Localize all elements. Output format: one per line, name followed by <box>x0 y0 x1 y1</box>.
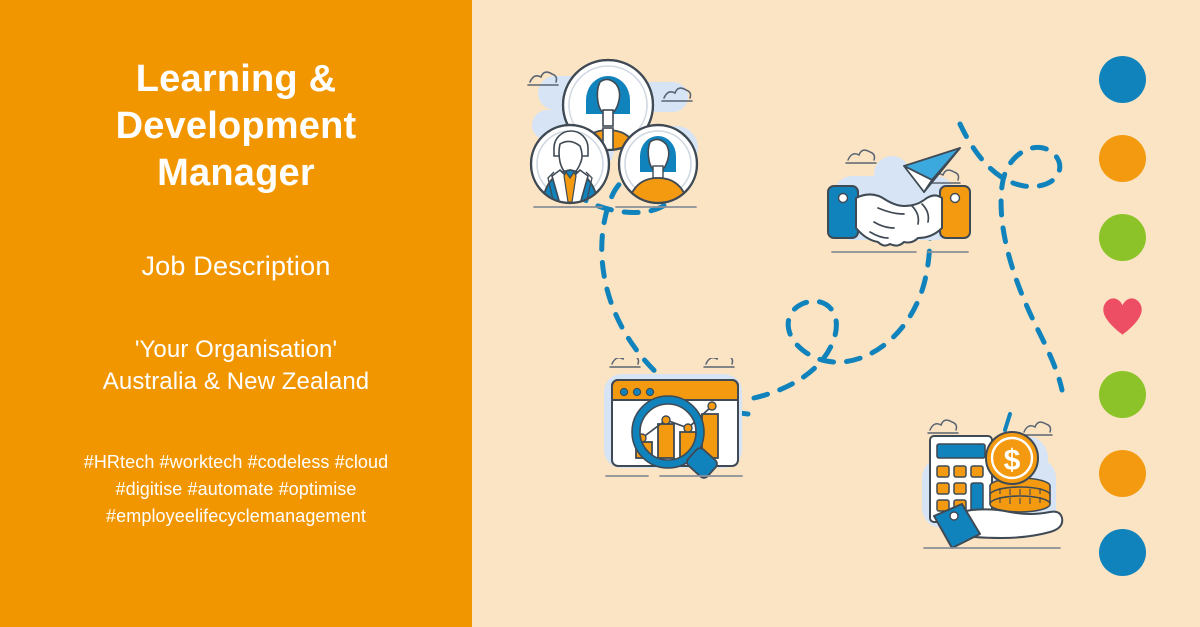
left-orange-panel: Learning & Development Manager Job Descr… <box>0 0 472 627</box>
dollar-coin-icon: $ <box>986 432 1038 484</box>
organisation-block: 'Your Organisation' Australia & New Zeal… <box>103 334 369 396</box>
illustration-area: $ <box>472 0 1200 627</box>
job-title-line-1: Learning & <box>46 56 426 103</box>
green-circle-1 <box>1099 214 1146 261</box>
hashtags-line-3: #employeelifecyclemanagement <box>84 503 389 530</box>
orange-circle-1 <box>1099 135 1146 182</box>
analytics-window-illustration <box>590 358 760 488</box>
blue-circle-1 <box>1099 56 1146 103</box>
hashtags-line-2: #digitise #automate #optimise <box>84 476 389 503</box>
pink-heart-icon <box>1099 292 1146 339</box>
organisation-name: 'Your Organisation' <box>103 334 369 365</box>
handshake-illustration <box>820 140 980 265</box>
window-dots <box>620 388 653 395</box>
green-circle-2 <box>1099 371 1146 418</box>
poster-canvas: Learning & Development Manager Job Descr… <box>0 0 1200 627</box>
page-title: Learning & Development Manager <box>46 56 426 197</box>
calculator-money-illustration: $ <box>912 412 1072 557</box>
job-title-line-3: Manager <box>46 150 426 197</box>
svg-text:$: $ <box>1004 444 1021 477</box>
hashtags-block: #HRtech #worktech #codeless #cloud #digi… <box>84 449 389 531</box>
blue-circle-2 <box>1099 529 1146 576</box>
orange-circle-2 <box>1099 450 1146 497</box>
region-name: Australia & New Zealand <box>103 366 369 397</box>
decorative-dot-column <box>1096 56 1148 576</box>
people-avatars <box>524 52 714 217</box>
job-title-line-2: Development <box>46 103 426 150</box>
subtitle-job-description: Job Description <box>141 251 330 282</box>
hashtags-line-1: #HRtech #worktech #codeless #cloud <box>84 449 389 476</box>
